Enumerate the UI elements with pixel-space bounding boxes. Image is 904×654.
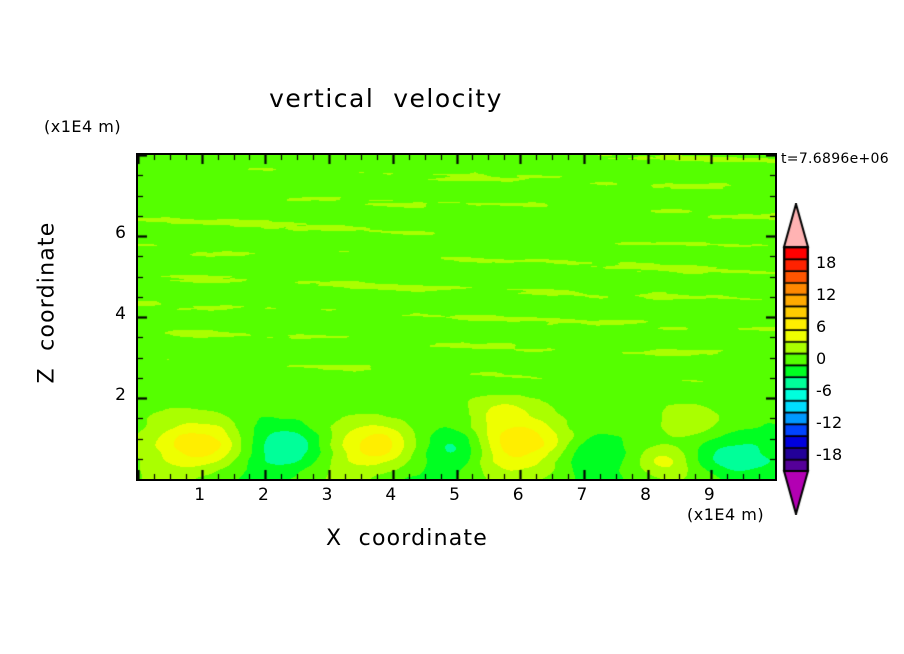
x-tick-label: 4	[371, 485, 411, 505]
colorbar-tick-label: 6	[816, 317, 826, 336]
x-tick-label: 3	[307, 485, 347, 505]
x-tick-label: 2	[243, 485, 283, 505]
x-tick-label: 8	[626, 485, 666, 505]
x-tick-label: 6	[498, 485, 538, 505]
y-tick-label: 6	[86, 223, 126, 243]
colorbar-tick-label: -18	[816, 445, 842, 464]
y-axis-title: Z coordinate	[35, 193, 60, 413]
page-title: vertical velocity	[0, 84, 772, 113]
y-tick-label: 2	[86, 385, 126, 405]
colorbar-tick-label: 12	[816, 285, 836, 304]
figure-canvas: vertical velocity (x1E4 m) (x1E4 m) t=7.…	[0, 0, 904, 654]
x-axis-unit-label: (x1E4 m)	[687, 505, 764, 524]
y-tick-label: 4	[86, 304, 126, 324]
colorbar[interactable]	[779, 203, 813, 515]
x-tick-label: 1	[180, 485, 220, 505]
x-axis-title: X coordinate	[0, 526, 904, 551]
y-axis-unit-label: (x1E4 m)	[44, 117, 121, 136]
colorbar-tick-label: 18	[816, 253, 836, 272]
colorbar-tick-label: -6	[816, 381, 832, 400]
contour-field	[138, 155, 775, 479]
colorbar-tick-label: 0	[816, 349, 826, 368]
x-tick-label: 9	[689, 485, 729, 505]
colorbar-tick-label: -12	[816, 413, 842, 432]
timestamp-label: t=7.6896e+06	[781, 151, 889, 167]
colorbar-gradient	[779, 203, 813, 515]
x-axis-title-text: X coordinate	[326, 526, 488, 551]
plot-area[interactable]	[136, 153, 777, 481]
x-tick-label: 5	[435, 485, 475, 505]
x-tick-label: 7	[562, 485, 602, 505]
